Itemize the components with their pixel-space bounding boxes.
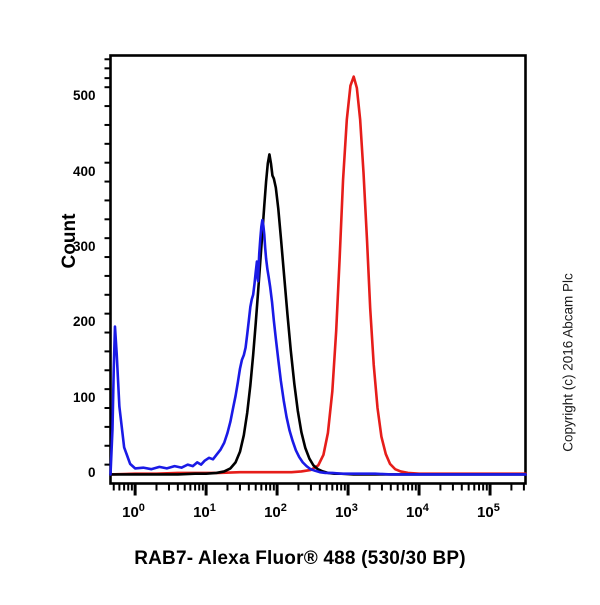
x-tick-base: 10 [264, 504, 281, 521]
x-tick-base: 10 [406, 504, 423, 521]
x-tick-label: 102 [264, 502, 287, 521]
y-tick-label: 300 [48, 239, 96, 254]
flow-cytometry-histogram: Count RAB7- Alexa Fluor® 488 (530/30 BP)… [0, 0, 600, 600]
y-tick-label: 500 [48, 88, 96, 103]
x-tick-exponent: 4 [423, 502, 429, 514]
x-tick-label: 101 [193, 502, 216, 521]
y-tick-label: 400 [48, 164, 96, 179]
x-tick-exponent: 1 [210, 502, 216, 514]
x-tick-exponent: 3 [352, 502, 358, 514]
x-tick-base: 10 [193, 504, 210, 521]
x-tick-label: 100 [122, 502, 145, 521]
x-tick-base: 10 [335, 504, 352, 521]
x-axis-title: RAB7- Alexa Fluor® 488 (530/30 BP) [0, 548, 600, 570]
copyright-notice: Copyright (c) 2016 Abcam Plc [561, 243, 576, 483]
x-tick-base: 10 [122, 504, 139, 521]
x-tick-label: 104 [406, 502, 429, 521]
x-tick-label: 103 [335, 502, 358, 521]
x-tick-exponent: 5 [494, 502, 500, 514]
x-tick-base: 10 [477, 504, 494, 521]
x-tick-exponent: 2 [281, 502, 287, 514]
y-tick-label: 0 [48, 465, 96, 480]
y-tick-label: 100 [48, 390, 96, 405]
x-tick-exponent: 0 [139, 502, 145, 514]
x-tick-label: 105 [477, 502, 500, 521]
y-tick-label: 200 [48, 314, 96, 329]
